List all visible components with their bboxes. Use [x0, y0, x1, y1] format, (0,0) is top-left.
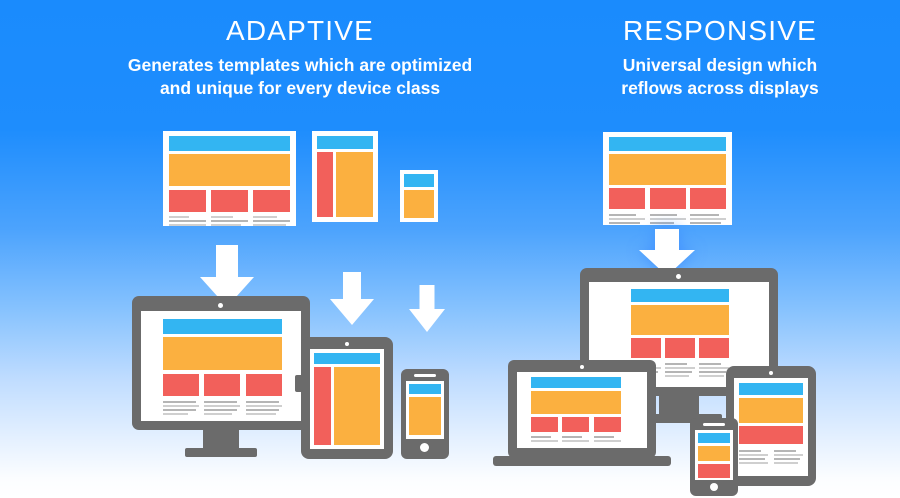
template-card-2	[211, 190, 248, 212]
template-sidebar	[317, 152, 333, 217]
screen-hero-block	[739, 398, 803, 423]
template-main-block	[404, 190, 434, 218]
tablet-screen	[310, 349, 384, 449]
screen-hero-block	[163, 337, 282, 370]
screen-header-bar	[409, 384, 441, 394]
template-header-bar	[609, 137, 726, 151]
phone-home-button-icon	[710, 483, 718, 491]
laptop-screen	[517, 372, 647, 448]
arrow-phone-icon	[409, 285, 445, 333]
screen-header-bar	[739, 383, 803, 395]
responsive-subtitle-line-2: reflows across displays	[500, 77, 900, 100]
screen-card-1	[163, 374, 199, 396]
template-header-bar	[404, 174, 434, 187]
screen-card-stacked	[739, 426, 803, 444]
responsive-subtitle: Universal design which reflows across di…	[500, 54, 900, 100]
screen-card-1	[631, 338, 661, 358]
screen-header-bar	[531, 377, 621, 388]
tablet-camera-icon	[345, 342, 349, 346]
tablet-screen	[734, 378, 808, 476]
adaptive-phone-template	[400, 170, 438, 222]
monitor-base	[185, 448, 257, 457]
template-card-1	[609, 188, 645, 209]
template-card-1	[169, 190, 206, 212]
adaptive-subtitle: Generates templates which are optimized …	[60, 54, 540, 100]
screen-card-2	[665, 338, 695, 358]
screen-header-bar	[314, 353, 380, 364]
laptop-base	[493, 456, 671, 466]
adaptive-subtitle-line-1: Generates templates which are optimized	[60, 54, 540, 77]
responsive-subtitle-line-1: Universal design which	[500, 54, 900, 77]
screen-hero-block	[698, 446, 730, 461]
screen-card-3	[594, 417, 621, 432]
screen-header-bar	[631, 289, 729, 302]
screen-hero-block	[531, 391, 621, 414]
template-header-bar	[317, 136, 373, 149]
screen-card-2	[562, 417, 589, 432]
screen-card-3	[246, 374, 282, 396]
screen-header-bar	[163, 319, 282, 334]
screen-main-block	[334, 367, 380, 445]
template-hero-block	[609, 154, 726, 185]
adaptive-tablet-template	[312, 131, 378, 222]
arrow-tablet-icon	[330, 272, 374, 326]
monitor-screen	[141, 311, 301, 421]
screen-header-bar	[698, 433, 730, 443]
adaptive-subtitle-line-2: and unique for every device class	[60, 77, 540, 100]
monitor-camera-icon	[676, 274, 681, 279]
screen-sidebar	[314, 367, 331, 445]
screen-hero-block	[631, 305, 729, 335]
adaptive-heading-block: ADAPTIVE Generates templates which are o…	[60, 14, 540, 100]
template-card-2	[650, 188, 686, 209]
tablet-camera-icon	[769, 371, 773, 375]
phone-screen	[406, 381, 444, 439]
screen-card-1	[531, 417, 558, 432]
template-card-3	[690, 188, 726, 209]
responsive-heading-block: RESPONSIVE Universal design which reflow…	[500, 14, 900, 100]
template-card-3	[253, 190, 290, 212]
phone-screen	[695, 430, 733, 480]
phone-speaker-icon	[703, 423, 725, 426]
template-hero-block	[169, 154, 290, 186]
monitor-camera-icon	[218, 303, 223, 308]
template-header-bar	[169, 136, 290, 151]
infographic-canvas: ADAPTIVE Generates templates which are o…	[0, 0, 900, 498]
tablet-side-button	[295, 375, 303, 392]
screen-card-2	[204, 374, 240, 396]
phone-speaker-icon	[414, 374, 436, 377]
responsive-universal-template	[603, 132, 732, 225]
adaptive-title: ADAPTIVE	[60, 14, 540, 48]
adaptive-desktop-template	[163, 131, 296, 226]
laptop-camera-icon	[580, 365, 584, 369]
screen-card-3	[699, 338, 729, 358]
responsive-title: RESPONSIVE	[500, 14, 900, 48]
screen-main-block	[409, 397, 441, 435]
phone-home-button-icon	[420, 443, 429, 452]
screen-card-stacked	[698, 464, 730, 478]
template-main-block	[336, 152, 373, 217]
